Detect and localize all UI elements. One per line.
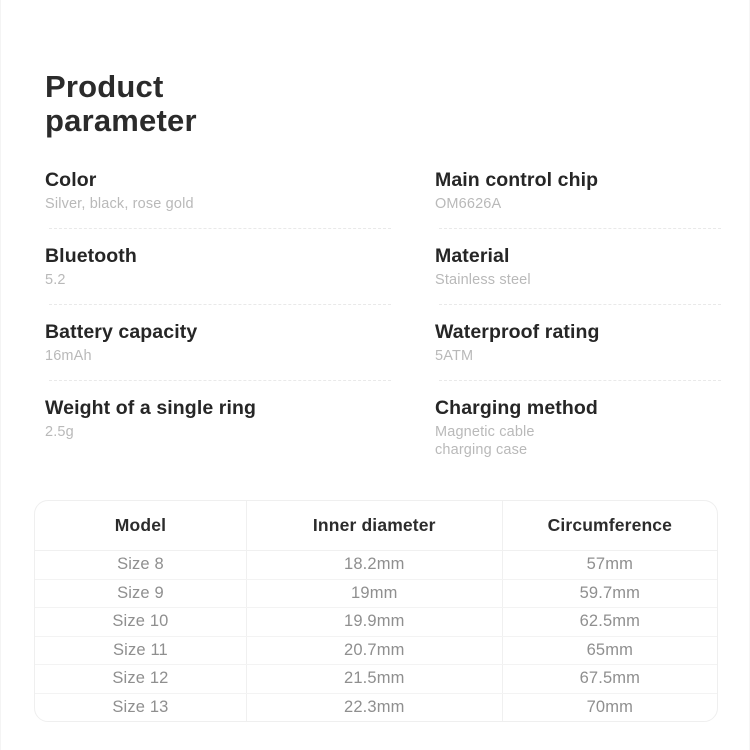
cell-inner-diameter: 21.5mm [246, 665, 502, 694]
cell-inner-diameter: 22.3mm [246, 693, 502, 721]
cell-circumference: 59.7mm [502, 579, 717, 608]
page-title: Product parameter [45, 70, 465, 138]
table-row: Size 12 21.5mm 67.5mm [35, 665, 717, 694]
table-row: Size 10 19.9mm 62.5mm [35, 608, 717, 637]
spec-label: Material [435, 244, 750, 268]
spec-item-battery-capacity: Battery capacity 16mAh [45, 320, 435, 381]
spec-grid: Color Silver, black, rose gold Main cont… [1, 168, 750, 490]
spec-value: OM6626A [435, 195, 750, 213]
cell-circumference: 65mm [502, 636, 717, 665]
cell-circumference: 67.5mm [502, 665, 717, 694]
cell-model: Size 8 [35, 551, 246, 580]
cell-model: Size 12 [35, 665, 246, 694]
size-chart-table: Model Inner diameter Circumference Size … [34, 500, 718, 722]
spec-label: Battery capacity [45, 320, 435, 344]
spec-label: Bluetooth [45, 244, 435, 268]
cell-inner-diameter: 19mm [246, 579, 502, 608]
table-row: Size 8 18.2mm 57mm [35, 551, 717, 580]
spec-label: Weight of a single ring [45, 396, 435, 420]
column-header-inner-diameter: Inner diameter [246, 501, 502, 551]
spec-item-color: Color Silver, black, rose gold [45, 168, 435, 229]
table-header-row: Model Inner diameter Circumference [35, 501, 717, 551]
spec-value: 2.5g [45, 423, 435, 441]
cell-model: Size 10 [35, 608, 246, 637]
spec-value: Stainless steel [435, 271, 750, 289]
table-row: Size 9 19mm 59.7mm [35, 579, 717, 608]
column-header-circumference: Circumference [502, 501, 717, 551]
cell-inner-diameter: 20.7mm [246, 636, 502, 665]
spec-label: Waterproof rating [435, 320, 750, 344]
spec-label: Charging method [435, 396, 750, 420]
spec-item-weight-of-a-single-ring: Weight of a single ring 2.5g [45, 396, 435, 475]
cell-model: Size 9 [35, 579, 246, 608]
spec-value: Silver, black, rose gold [45, 195, 435, 213]
spec-value: Magnetic cable charging case [435, 423, 750, 459]
cell-inner-diameter: 19.9mm [246, 608, 502, 637]
spec-label: Color [45, 168, 435, 192]
table-row: Size 11 20.7mm 65mm [35, 636, 717, 665]
spec-label: Main control chip [435, 168, 750, 192]
cell-circumference: 70mm [502, 693, 717, 721]
cell-inner-diameter: 18.2mm [246, 551, 502, 580]
cell-circumference: 57mm [502, 551, 717, 580]
cell-model: Size 13 [35, 693, 246, 721]
column-header-model: Model [35, 501, 246, 551]
spec-value: 16mAh [45, 347, 435, 365]
table-row: Size 13 22.3mm 70mm [35, 693, 717, 721]
spec-item-waterproof-rating: Waterproof rating 5ATM [435, 320, 750, 381]
spec-item-material: Material Stainless steel [435, 244, 750, 305]
spec-value: 5.2 [45, 271, 435, 289]
spec-item-bluetooth: Bluetooth 5.2 [45, 244, 435, 305]
cell-model: Size 11 [35, 636, 246, 665]
spec-value: 5ATM [435, 347, 750, 365]
product-parameter-page: Product parameter Color Silver, black, r… [0, 0, 750, 750]
spec-item-charging-method: Charging method Magnetic cable charging … [435, 396, 750, 475]
spec-item-main-control-chip: Main control chip OM6626A [435, 168, 750, 229]
cell-circumference: 62.5mm [502, 608, 717, 637]
